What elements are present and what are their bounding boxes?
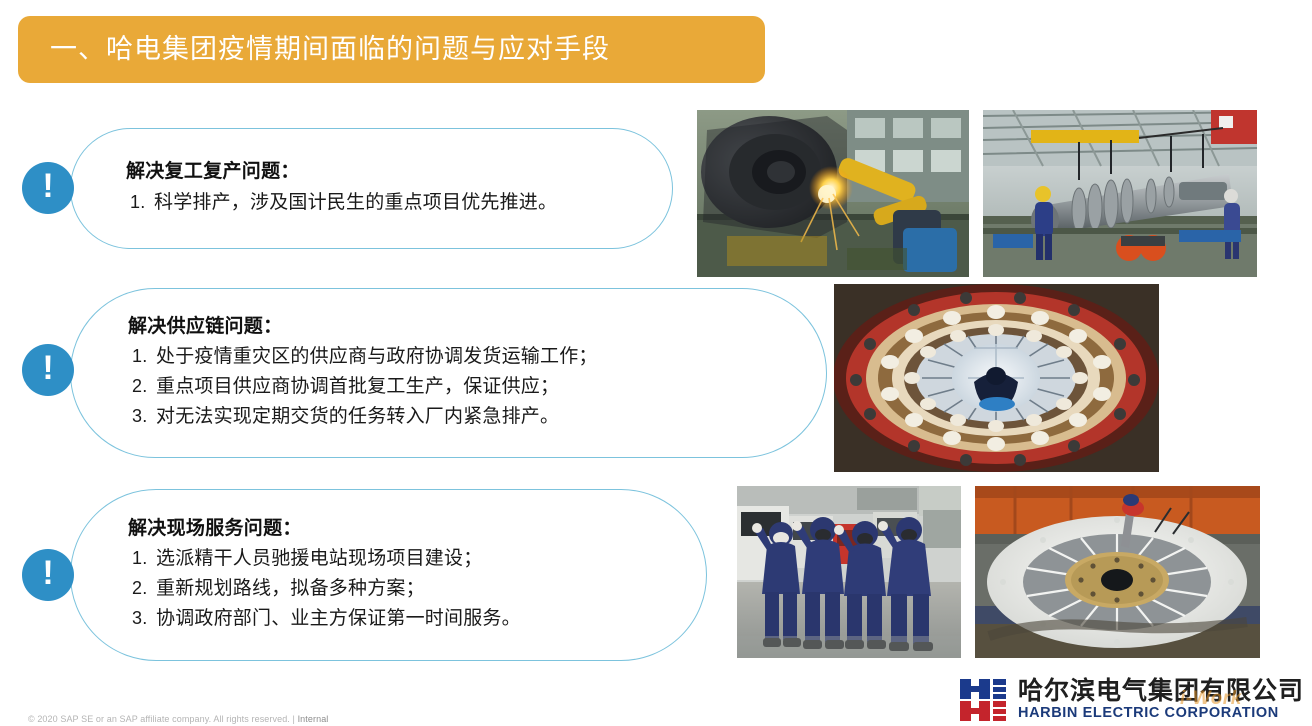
- list-item-number: 2.: [128, 574, 156, 602]
- turbine-rotor-lifting-photo: [983, 110, 1257, 277]
- content-card-3: 解决现场服务问题： 1. 选派精干人员驰援电站现场项目建设； 2. 重新规划路线…: [70, 489, 707, 661]
- list-item-text: 科学排产，涉及国计民生的重点项目优先推进。: [154, 188, 644, 218]
- card-2-body: 解决供应链问题： 1. 处于疫情重灾区的供应商与政府协调发货运输工作； 2. 重…: [128, 289, 798, 457]
- list-item: 1. 选派精干人员驰援电站现场项目建设；: [128, 544, 678, 574]
- turbine-runner-disc-photo: [975, 486, 1260, 658]
- logo-name-en: HARBIN ELECTRIC CORPORATION: [1018, 706, 1304, 721]
- card-2-heading: 解决供应链问题：: [128, 314, 798, 340]
- generator-stator-photo: [834, 284, 1159, 472]
- list-item: 3. 对无法实现定期交货的任务转入厂内紧急排产。: [128, 402, 798, 432]
- list-item-text: 对无法实现定期交货的任务转入厂内紧急排产。: [156, 402, 798, 432]
- list-item-number: 3.: [128, 604, 156, 632]
- card-3-list: 1. 选派精干人员驰援电站现场项目建设； 2. 重新规划路线，拟备多种方案； 3…: [128, 544, 678, 634]
- list-item: 1. 处于疫情重灾区的供应商与政府协调发货运输工作；: [128, 342, 798, 372]
- page-title: 一、哈电集团疫情期间面临的问题与应对手段: [50, 36, 610, 63]
- card-3-heading: 解决现场服务问题：: [128, 516, 678, 542]
- card-1-heading: 解决复工复产问题：: [126, 159, 644, 185]
- card-1-body: 解决复工复产问题： 1. 科学排产，涉及国计民生的重点项目优先推进。: [126, 129, 644, 248]
- exclamation-icon: !: [42, 556, 53, 590]
- footer-classification: Internal: [298, 714, 329, 724]
- exclamation-icon: !: [42, 351, 53, 385]
- alert-badge-1: !: [22, 162, 74, 214]
- content-card-1: 解决复工复产问题： 1. 科学排产，涉及国计民生的重点项目优先推进。: [70, 128, 673, 249]
- list-item-text: 选派精干人员驰援电站现场项目建设；: [156, 544, 678, 574]
- list-item-number: 2.: [128, 372, 156, 400]
- card-1-list: 1. 科学排产，涉及国计民生的重点项目优先推进。: [126, 188, 644, 218]
- list-item-number: 1.: [126, 188, 154, 216]
- hc-monogram-icon: [960, 679, 1006, 721]
- alert-badge-3: !: [22, 549, 74, 601]
- footer-copyright: © 2020 SAP SE or an SAP affiliate compan…: [28, 714, 328, 724]
- list-item-number: 1.: [128, 544, 156, 572]
- list-item: 2. 重点项目供应商协调首批复工生产，保证供应；: [128, 372, 798, 402]
- alert-badge-2: !: [22, 344, 74, 396]
- list-item: 1. 科学排产，涉及国计民生的重点项目优先推进。: [126, 188, 644, 218]
- list-item-number: 1.: [128, 342, 156, 370]
- list-item: 3. 协调政府部门、业主方保证第一时间服务。: [128, 604, 678, 634]
- footer-separator: |: [293, 714, 295, 724]
- harbin-electric-logo: 哈尔滨电气集团有限公司 HARBIN ELECTRIC CORPORATION: [960, 676, 1312, 724]
- list-item-text: 重新规划路线，拟备多种方案；: [156, 574, 678, 604]
- footer-copyright-text: © 2020 SAP SE or an SAP affiliate compan…: [28, 714, 290, 724]
- list-item-text: 处于疫情重灾区的供应商与政府协调发货运输工作；: [156, 342, 798, 372]
- welding-robot-photo: [697, 110, 969, 277]
- logo-name-cn: 哈尔滨电气集团有限公司: [1018, 679, 1304, 704]
- card-3-body: 解决现场服务问题： 1. 选派精干人员驰援电站现场项目建设； 2. 重新规划路线…: [128, 490, 678, 660]
- workers-protective-suits-photo: [737, 486, 961, 658]
- logo-text-block: 哈尔滨电气集团有限公司 HARBIN ELECTRIC CORPORATION: [1018, 679, 1304, 721]
- list-item-text: 协调政府部门、业主方保证第一时间服务。: [156, 604, 678, 634]
- title-banner: 一、哈电集团疫情期间面临的问题与应对手段: [18, 16, 765, 83]
- slide-canvas: 一、哈电集团疫情期间面临的问题与应对手段 解决复工复产问题： 1. 科学排产，涉…: [0, 0, 1312, 726]
- list-item: 2. 重新规划路线，拟备多种方案；: [128, 574, 678, 604]
- list-item-text: 重点项目供应商协调首批复工生产，保证供应；: [156, 372, 798, 402]
- card-2-list: 1. 处于疫情重灾区的供应商与政府协调发货运输工作； 2. 重点项目供应商协调首…: [128, 342, 798, 432]
- content-card-2: 解决供应链问题： 1. 处于疫情重灾区的供应商与政府协调发货运输工作； 2. 重…: [70, 288, 827, 458]
- exclamation-icon: !: [42, 169, 53, 203]
- list-item-number: 3.: [128, 402, 156, 430]
